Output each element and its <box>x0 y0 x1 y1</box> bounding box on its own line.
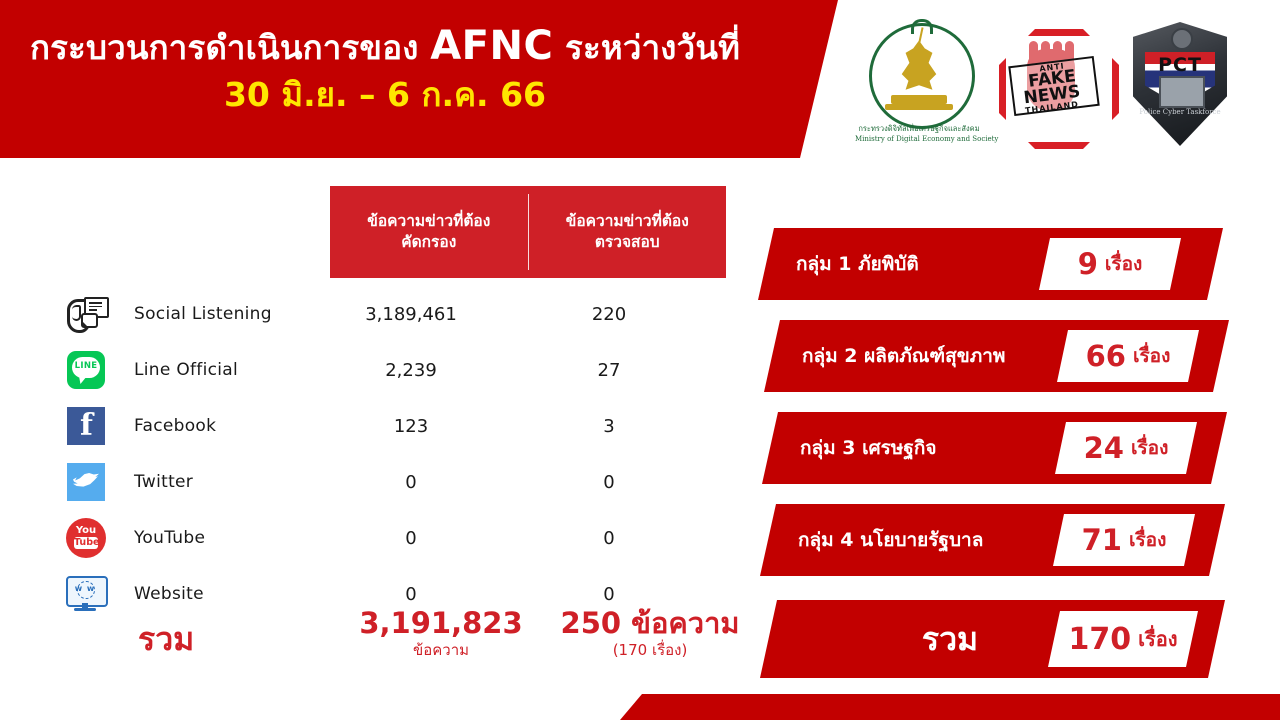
page-title: กระบวนการดำเนินการของ AFNC ระหว่างวันที่… <box>0 22 770 115</box>
table-row: Social Listening 3,189,461 220 <box>60 286 726 342</box>
group-value-unit-2: เรื่อง <box>1133 341 1170 371</box>
line-icon: LINE <box>60 349 112 391</box>
table-total-row: รวม 3,191,823 ข้อความ 250 ข้อความ (170 เ… <box>60 606 726 676</box>
pct-abbr: PCT <box>1145 54 1215 76</box>
group-value-number-3: 24 <box>1084 431 1124 465</box>
table-total-verified-unit: (170 เรื่อง) <box>540 640 760 660</box>
table-total-screened-unit: ข้อความ <box>342 640 540 660</box>
group-bar-1: กลุ่ม 1 ภัยพิบัติ 9 เรื่อง <box>758 228 1223 300</box>
anti-fake-news-logo: ANTI FAKE NEWS THAILAND <box>993 21 1111 151</box>
column-header-screened: ข้อความข่าวที่ต้อง คัดกรอง <box>330 186 528 278</box>
facebook-icon: f <box>60 405 112 447</box>
group-label-2: กลุ่ม 2 ผลิตภัณฑ์สุขภาพ <box>802 320 1005 392</box>
screened-count: 0 <box>312 528 510 549</box>
table-row: Twitter 0 0 <box>60 454 726 510</box>
column-header-verified: ข้อความข่าวที่ต้อง ตรวจสอบ <box>529 186 727 278</box>
column-divider <box>528 194 529 270</box>
table-total-screened-value: 3,191,823 <box>342 606 540 640</box>
table-total-screened: 3,191,823 ข้อความ <box>342 606 540 660</box>
logo-row: กระทรวงดิจิทัลเพื่อเศรษฐกิจและสังคม Mini… <box>855 16 1270 156</box>
mdes-thai-caption: กระทรวงดิจิทัลเพื่อเศรษฐกิจและสังคม <box>855 123 983 135</box>
pct-logo: PCT Police Cyber Taskforce <box>1121 16 1239 156</box>
column-header-screened-line2: คัดกรอง <box>367 232 490 253</box>
screened-count: 2,239 <box>312 360 510 381</box>
group-value-unit-1: เรื่อง <box>1105 249 1142 279</box>
group-label-3: กลุ่ม 3 เศรษฐกิจ <box>800 412 937 484</box>
table-row: YouTube YouTube 0 0 <box>60 510 726 566</box>
verified-count: 3 <box>510 416 708 437</box>
screened-count: 0 <box>312 584 510 605</box>
channel-name: YouTube <box>112 528 312 548</box>
mdes-logo: กระทรวงดิจิทัลเพื่อเศรษฐกิจและสังคม Mini… <box>855 19 983 154</box>
group-value-number-1: 9 <box>1078 247 1098 281</box>
column-header-verified-line1: ข้อความข่าวที่ต้อง <box>566 211 689 232</box>
group-label-4: กลุ่ม 4 นโยบายรัฐบาล <box>798 504 983 576</box>
group-label-1: กลุ่ม 1 ภัยพิบัติ <box>796 228 919 300</box>
page-title-suffix: ระหว่างวันที่ <box>553 28 740 67</box>
table-row: LINE Line Official 2,239 27 <box>60 342 726 398</box>
group-value-3: 24 เรื่อง <box>1055 422 1197 474</box>
mdes-pedestal-top <box>891 95 947 104</box>
group-value-unit-3: เรื่อง <box>1131 433 1168 463</box>
channel-name: Website <box>112 584 312 604</box>
page-title-date-range: 30 มิ.ย. – 6 ก.ค. 66 <box>0 75 770 115</box>
group-total-value: 170 เรื่อง <box>1048 611 1198 667</box>
page-title-line1: กระบวนการดำเนินการของ AFNC ระหว่างวันที่ <box>0 22 770 71</box>
group-total-number: 170 <box>1069 622 1132 657</box>
table-row: f Facebook 123 3 <box>60 398 726 454</box>
table-total-label: รวม <box>138 614 194 665</box>
mdes-pedestal-base <box>885 104 953 110</box>
verified-count: 220 <box>510 304 708 325</box>
verified-count: 0 <box>510 528 708 549</box>
table-total-verified-value: 250 ข้อความ <box>540 606 760 640</box>
group-value-number-4: 71 <box>1082 523 1122 557</box>
category-group-list: กลุ่ม 1 ภัยพิบัติ 9 เรื่อง กลุ่ม 2 ผลิตภ… <box>750 228 1250 678</box>
group-value-2: 66 เรื่อง <box>1057 330 1199 382</box>
social-listening-icon <box>60 293 112 335</box>
group-value-number-2: 66 <box>1086 339 1126 373</box>
screened-count: 123 <box>312 416 510 437</box>
screened-count: 3,189,461 <box>312 304 510 325</box>
group-bar-3: กลุ่ม 3 เศรษฐกิจ 24 เรื่อง <box>762 412 1227 484</box>
group-bar-2: กลุ่ม 2 ผลิตภัณฑ์สุขภาพ 66 เรื่อง <box>764 320 1229 392</box>
table-total-verified: 250 ข้อความ (170 เรื่อง) <box>540 606 760 660</box>
column-header-screened-line1: ข้อความข่าวที่ต้อง <box>367 211 490 232</box>
channel-name: Facebook <box>112 416 312 436</box>
channel-name: Social Listening <box>112 304 312 324</box>
group-total-unit: เรื่อง <box>1138 623 1177 655</box>
page-title-prefix: กระบวนการดำเนินการของ <box>30 28 430 67</box>
youtube-icon: YouTube <box>60 517 112 559</box>
screened-count: 0 <box>312 472 510 493</box>
channel-name: Line Official <box>112 360 312 380</box>
group-value-4: 71 เรื่อง <box>1053 514 1195 566</box>
channel-name: Twitter <box>112 472 312 492</box>
column-header-verified-line2: ตรวจสอบ <box>566 232 689 253</box>
bottom-accent-strip <box>620 694 1280 720</box>
group-bar-total: รวม 170 เรื่อง <box>760 600 1225 678</box>
microchip-icon <box>1159 76 1205 108</box>
page-title-brand: AFNC <box>430 23 553 69</box>
mdes-english-caption: Ministry of Digital Economy and Society <box>855 135 983 143</box>
group-value-unit-4: เรื่อง <box>1129 525 1166 555</box>
verified-count: 27 <box>510 360 708 381</box>
verified-count: 0 <box>510 584 708 605</box>
group-bar-4: กลุ่ม 4 นโยบายรัฐบาล 71 เรื่อง <box>760 504 1225 576</box>
group-value-1: 9 เรื่อง <box>1039 238 1181 290</box>
channel-stats-table: ข้อความข่าวที่ต้อง คัดกรอง ข้อความข่าวที… <box>0 158 760 698</box>
group-total-label: รวม <box>860 600 1040 678</box>
verified-count: 0 <box>510 472 708 493</box>
twitter-icon <box>60 461 112 503</box>
pct-emblem-knob <box>1171 28 1193 50</box>
pct-caption: Police Cyber Taskforce <box>1133 108 1227 116</box>
table-header-row: ข้อความข่าวที่ต้อง คัดกรอง ข้อความข่าวที… <box>330 186 726 278</box>
